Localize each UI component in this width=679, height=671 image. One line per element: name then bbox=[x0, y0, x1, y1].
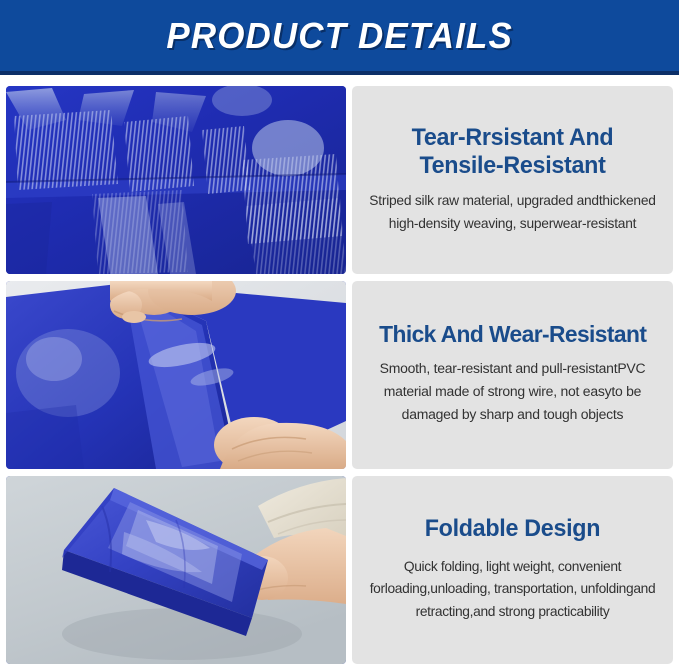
feature-row: Foldable Design Quick folding, light wei… bbox=[6, 476, 673, 664]
folded-tarp-held-by-person-photo bbox=[6, 476, 346, 664]
feature-heading: Tear-Rrsistant And Tensile-Resistant bbox=[368, 124, 656, 181]
feature-heading: Thick And Wear-Resistant bbox=[379, 321, 646, 349]
feature-row: Thick And Wear-Resistant Smooth, tear-re… bbox=[6, 281, 673, 469]
product-details-infographic: PRODUCT DETAILS bbox=[0, 0, 679, 670]
feature-description: Striped silk raw material, upgraded andt… bbox=[366, 189, 659, 234]
hands-stretching-illustration bbox=[6, 281, 346, 469]
blue-pvc-tarp-closeup-photo bbox=[6, 86, 346, 274]
folded-tarp-illustration bbox=[6, 476, 346, 664]
feature-text-panel: Thick And Wear-Resistant Smooth, tear-re… bbox=[352, 281, 673, 469]
feature-text-panel: Tear-Rrsistant And Tensile-Resistant Str… bbox=[352, 86, 673, 274]
feature-description: Smooth, tear-resistant and pull-resistan… bbox=[366, 358, 659, 427]
header-banner: PRODUCT DETAILS bbox=[0, 0, 679, 75]
feature-description: Quick folding, light weight, convenient … bbox=[366, 555, 659, 623]
feature-text-panel: Foldable Design Quick folding, light wei… bbox=[352, 476, 673, 664]
hands-stretching-tarp-photo bbox=[6, 281, 346, 469]
page-title: PRODUCT DETAILS bbox=[166, 18, 513, 54]
tarp-texture-illustration bbox=[6, 86, 346, 274]
feature-rows: Tear-Rrsistant And Tensile-Resistant Str… bbox=[0, 75, 679, 671]
feature-row: Tear-Rrsistant And Tensile-Resistant Str… bbox=[6, 86, 673, 274]
feature-heading: Foldable Design bbox=[425, 515, 600, 543]
